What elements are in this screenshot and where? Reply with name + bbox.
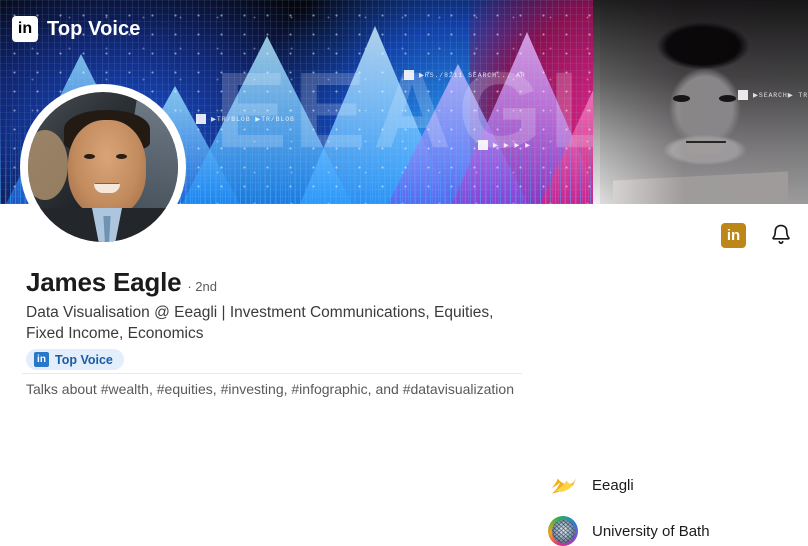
hud-square-icon: [478, 140, 488, 150]
profile-organizations: Eeagli University of Bath: [548, 470, 710, 546]
profile-action-icons: in: [721, 222, 794, 248]
section-divider: [22, 373, 522, 374]
linkedin-badge-icon[interactable]: in: [721, 223, 746, 248]
page-title: James Eagle: [26, 267, 181, 298]
profile-identity: James Eagle · 2nd Data Visualisation @ E…: [26, 267, 526, 345]
banner-hud-overlay: ▶RS./8211 SEARCH... AR: [404, 70, 526, 80]
top-voice-pill-label: Top Voice: [55, 353, 113, 367]
hud-square-icon: [404, 70, 414, 80]
avatar-photo: [28, 92, 178, 242]
linkedin-in-icon: in: [34, 352, 49, 367]
banner-hud-overlay: ▶ ▶ ▶ ▶: [478, 140, 531, 150]
organization-label: Eeagli: [592, 477, 634, 494]
linkedin-profile-page: EEAGLI ▶TR/BLOB ▶TR/BLOB ▶RS./8211 SEARC…: [0, 0, 808, 404]
talks-about-text: Talks about #wealth, #equities, #investi…: [26, 381, 514, 397]
organization-item-school[interactable]: University of Bath: [548, 516, 710, 546]
organization-item-company[interactable]: Eeagli: [548, 470, 710, 500]
organization-label: University of Bath: [592, 523, 710, 540]
notification-bell-icon[interactable]: [768, 222, 794, 248]
banner-portrait-photo: [593, 0, 808, 204]
banner-hud-overlay: ▶SEARCH▶ TR/8: [738, 90, 808, 100]
linkedin-in-icon: in: [12, 16, 38, 42]
banner-top-voice-label: Top Voice: [47, 18, 141, 41]
connection-degree: · 2nd: [187, 279, 217, 294]
hud-square-icon: [738, 90, 748, 100]
profile-avatar[interactable]: [24, 88, 182, 246]
hud-square-icon: [196, 114, 206, 124]
top-voice-badge-pill[interactable]: in Top Voice: [26, 349, 124, 370]
profile-name-line: James Eagle · 2nd: [26, 267, 526, 298]
banner-top-voice-badge: in Top Voice: [8, 12, 151, 46]
eagle-wing-icon: [548, 470, 578, 500]
banner-hud-overlay: ▶TR/BLOB ▶TR/BLOB: [196, 114, 295, 124]
profile-headline: Data Visualisation @ Eeagli | Investment…: [26, 302, 512, 345]
university-crest-icon: [548, 516, 578, 546]
